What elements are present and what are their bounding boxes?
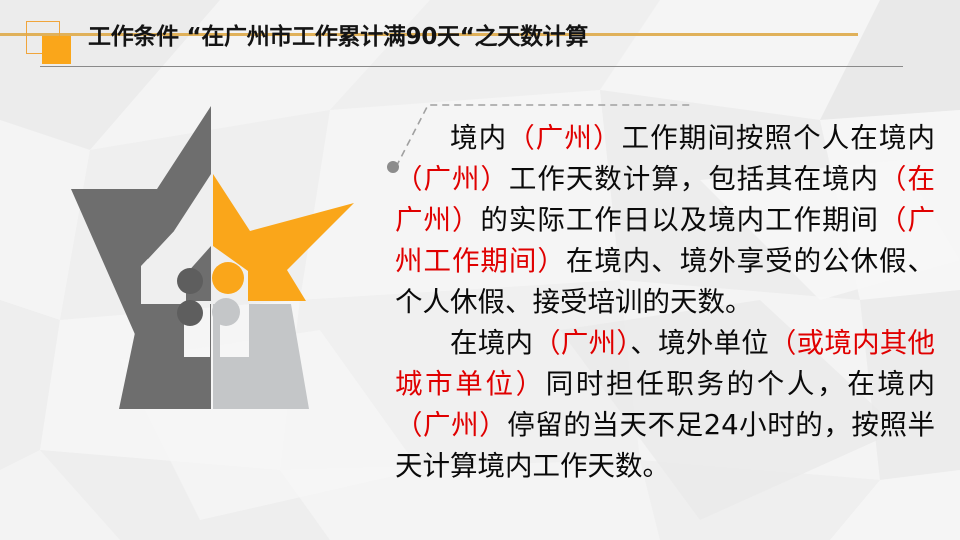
star-dot-top-right — [212, 262, 244, 294]
slide-canvas: 工作条件 “在广州市工作累计满90天“之天数计算 境内（广州）工作期间按照个人在… — [0, 0, 960, 540]
text-run: 工作期间按照个人在境内 — [622, 122, 935, 154]
five-point-star-graphic — [62, 96, 362, 416]
highlighted-text-run: （广州） — [395, 163, 509, 195]
star-dot-bottom-left — [177, 300, 203, 326]
text-run: 工作天数计算，包括其在境内 — [509, 163, 879, 195]
text-run: 境内 — [450, 122, 507, 154]
star-dot-top-left — [177, 268, 203, 294]
decoration-square-filled — [42, 36, 71, 64]
body-text-block: 境内（广州）工作期间按照个人在境内（广州）工作天数计算，包括其在境内（在广州）的… — [395, 118, 935, 487]
text-run: 的实际工作日以及境内工作期间 — [480, 204, 879, 236]
body-paragraph: 在境内（广州）、境外单位（或境内其他城市单位）同时担任职务的个人，在境内（广州）… — [395, 323, 935, 487]
slide-title-bar: 工作条件 “在广州市工作累计满90天“之天数计算 — [0, 0, 960, 80]
text-run: 在境内 — [450, 327, 533, 359]
title-gray-rule — [40, 66, 903, 67]
highlighted-text-run: （广州） — [507, 122, 621, 154]
text-run: 同时担任职务的个人，在境内 — [546, 368, 935, 400]
page-title: 工作条件 “在广州市工作累计满90天“之天数计算 — [88, 22, 588, 52]
body-paragraph: 境内（广州）工作期间按照个人在境内（广州）工作天数计算，包括其在境内（在广州）的… — [395, 118, 935, 323]
star-dot-bottom-right — [212, 298, 240, 326]
text-run: 、境外单位 — [630, 327, 769, 359]
highlighted-text-run: （广州） — [533, 327, 630, 359]
highlighted-text-run: （广州） — [395, 409, 507, 441]
